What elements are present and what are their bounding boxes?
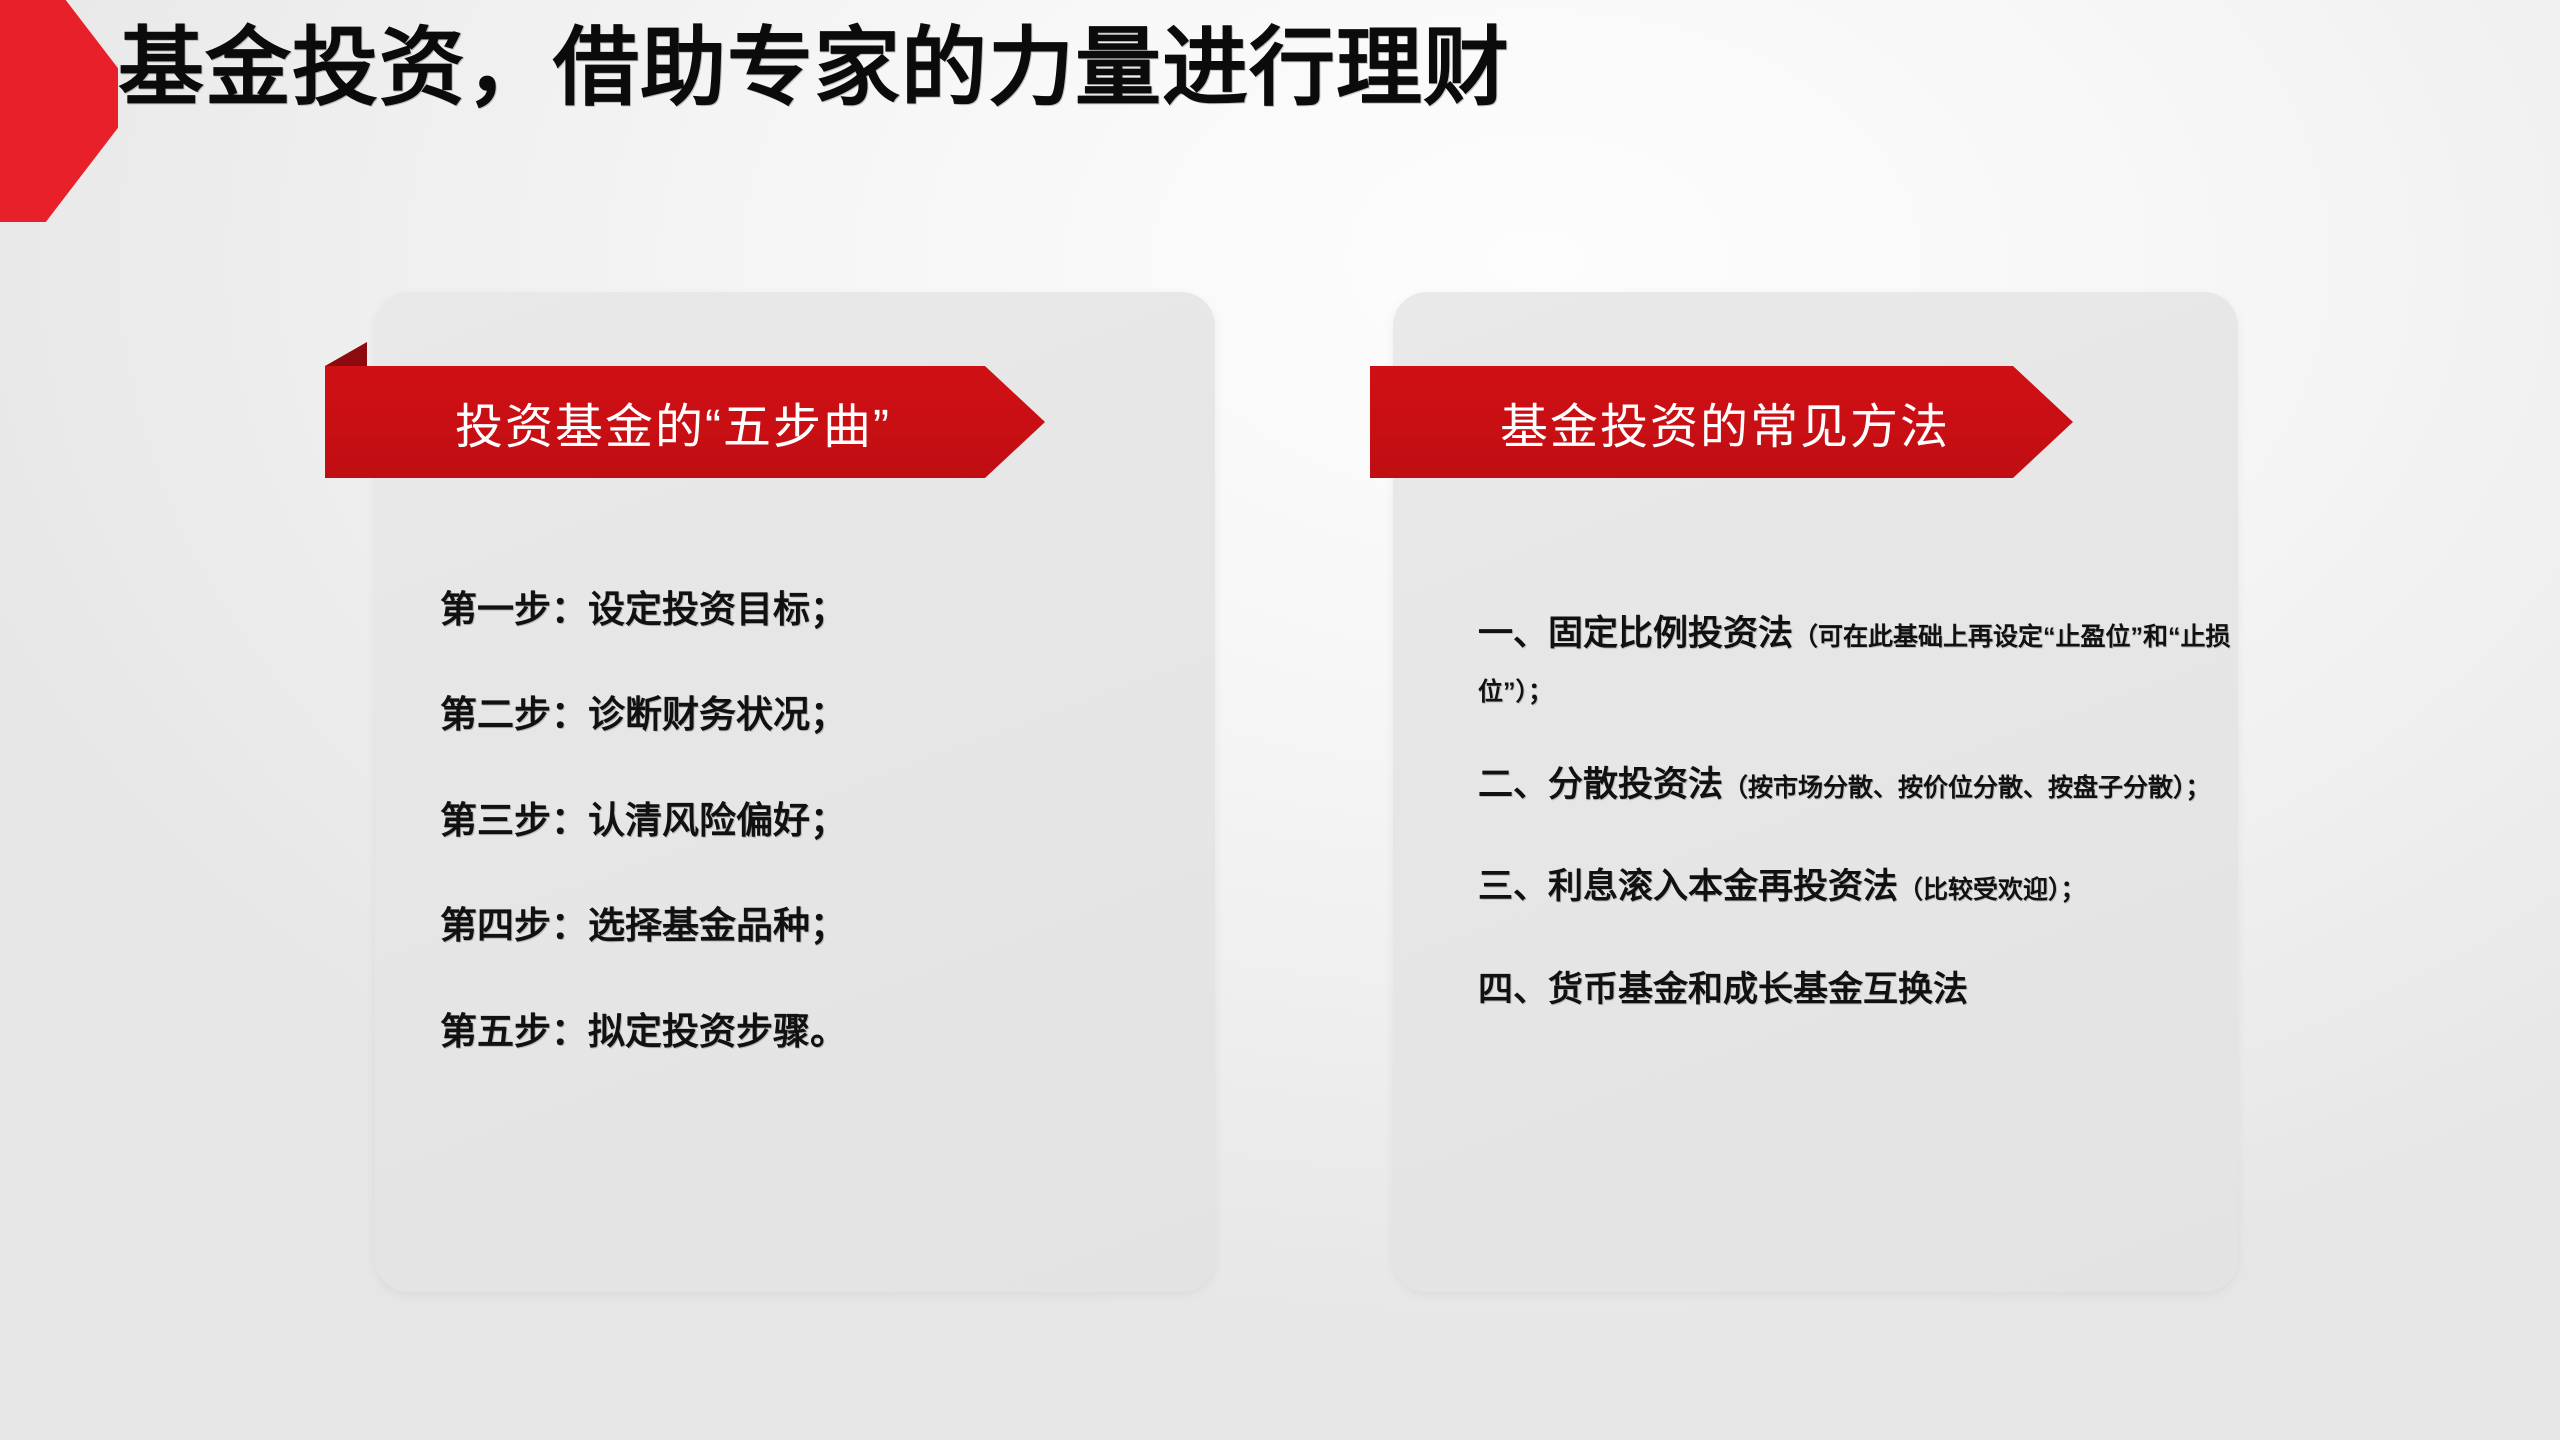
- method-note: （按市场分散、按价位分散、按盘子分散）；: [1723, 774, 2211, 802]
- left-panel-banner: 投资基金的“五步曲”: [325, 366, 1045, 478]
- method-title: 四、货币基金和成长基金互换法: [1478, 970, 1968, 1009]
- list-item: 三、利息滚入本金再投资法（比较受欢迎）；: [1478, 853, 2248, 921]
- method-title: 三、利息滚入本金再投资法: [1478, 867, 1898, 906]
- page-title: 基金投资，借助专家的力量进行理财: [118, 16, 1510, 121]
- list-item: 一、固定比例投资法（可在此基础上再设定“止盈位”和“止损位”）；: [1478, 600, 2248, 717]
- method-note: （比较受欢迎）；: [1898, 876, 2086, 904]
- red-hexagon-accent: [0, 0, 118, 222]
- steps-list: 第一步：设定投资目标； 第二步：诊断财务状况； 第三步：认清风险偏好； 第四步：…: [440, 588, 1180, 1115]
- list-item: 第四步：选择基金品种；: [440, 904, 1180, 948]
- right-panel-banner: 基金投资的常见方法: [1370, 366, 2073, 478]
- list-item: 第一步：设定投资目标；: [440, 588, 1180, 632]
- right-banner-label: 基金投资的常见方法: [1500, 387, 1950, 457]
- method-title: 一、固定比例投资法: [1478, 614, 1793, 653]
- methods-list: 一、固定比例投资法（可在此基础上再设定“止盈位”和“止损位”）； 二、分散投资法…: [1478, 600, 2248, 1058]
- method-title: 二、分散投资法: [1478, 765, 1723, 804]
- list-item: 第二步：诊断财务状况；: [440, 693, 1180, 737]
- list-item: 二、分散投资法（按市场分散、按价位分散、按盘子分散）；: [1478, 751, 2248, 819]
- list-item: 四、货币基金和成长基金互换法: [1478, 956, 2248, 1024]
- left-banner-label: 投资基金的“五步曲”: [455, 387, 891, 457]
- list-item: 第三步：认清风险偏好；: [440, 799, 1180, 843]
- list-item: 第五步：拟定投资步骤。: [440, 1010, 1180, 1054]
- ribbon-fold-icon: [325, 342, 367, 366]
